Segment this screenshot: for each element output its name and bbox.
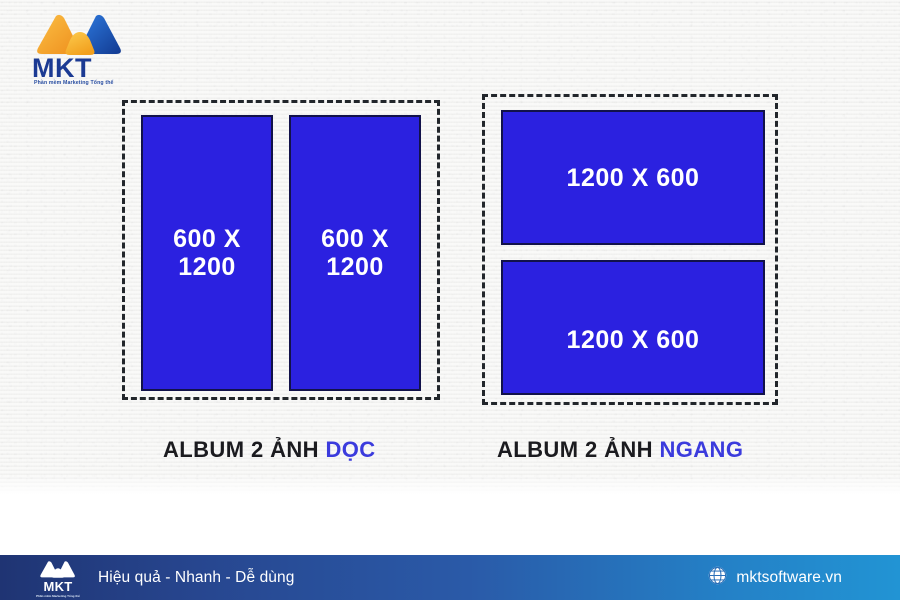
photo-tile-vertical-1: 600 X 1200 [141,115,273,391]
brand-logo: MKT Phần mềm Marketing Tổng thể [28,12,140,82]
brand-tagline: Phần mềm Marketing Tổng thể [34,80,114,86]
photo-tile-horizontal-1: 1200 X 600 [501,110,765,245]
photo-tile-horizontal-2: 1200 X 600 [501,260,765,395]
mkt-chevron-logo-icon [37,560,79,579]
infographic-page: MKT Phần mềm Marketing Tổng thể 600 X 12… [0,0,900,600]
footer-website-text: mktsoftware.vn [736,569,842,587]
photo-tile-label: 1200 X 600 [567,164,700,192]
album-group-horizontal: 1200 X 600 1200 X 600 [482,94,778,405]
photo-tile-label: 600 X 1200 [173,225,241,281]
brand-wordmark: MKT [32,55,92,82]
caption-prefix: ALBUM 2 ẢNH [497,437,659,462]
footer-website[interactable]: mktsoftware.vn [708,566,842,590]
photo-tile-vertical-2: 600 X 1200 [289,115,421,391]
caption-accent: NGANG [659,437,743,462]
footer-brand-tagline: Phần mềm Marketing Tổng thể [34,594,82,598]
photo-tile-label: 600 X 1200 [321,225,389,281]
caption-accent: DỌC [325,437,375,462]
album-group-vertical: 600 X 1200 600 X 1200 [122,100,440,400]
mkt-chevron-logo-icon [32,12,128,58]
caption-album-vertical: ALBUM 2 ẢNH DỌC [163,437,376,463]
caption-album-horizontal: ALBUM 2 ẢNH NGANG [497,437,743,463]
footer-bar: MKT Phần mềm Marketing Tổng thể Hiệu quả… [0,555,900,600]
caption-prefix: ALBUM 2 ẢNH [163,437,325,462]
footer-brand-logo: MKT Phần mềm Marketing Tổng thể [34,560,82,596]
footer-slogan: Hiệu quả - Nhanh - Dễ dùng [98,569,294,587]
globe-icon [708,566,727,590]
footer-brand-wordmark: MKT [34,580,82,593]
photo-tile-label: 1200 X 600 [567,326,700,354]
